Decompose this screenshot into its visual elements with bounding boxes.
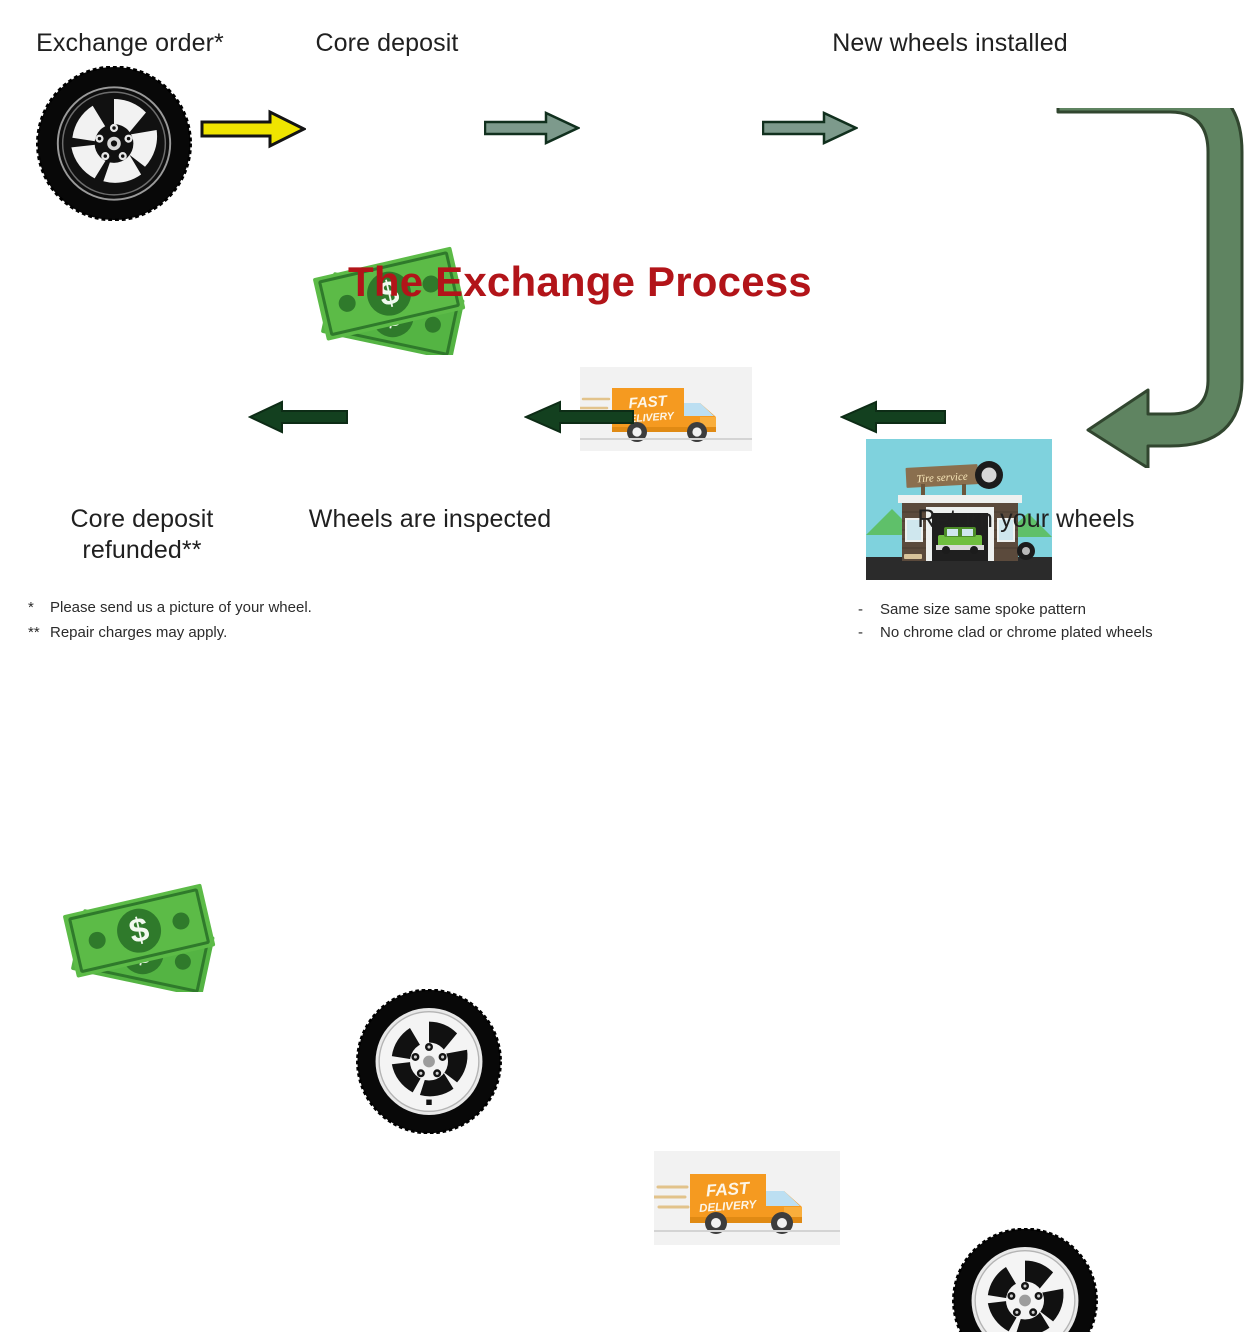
bullet-marker: - (858, 597, 880, 622)
arrow-garage-to-return (1052, 108, 1250, 468)
footnote-left-1: *Please send us a picture of your wheel. (28, 595, 312, 620)
step-label-core-deposit-refunded: Core deposit refunded** (22, 504, 262, 566)
wheel-dark-icon (36, 66, 192, 221)
footnote-marker: ** (28, 620, 50, 645)
exchange-process-diagram: Exchange order* Core deposit New wheels … (0, 0, 1250, 666)
arrow-truck-to-garage (762, 110, 858, 146)
bullet-marker: - (858, 620, 880, 645)
footnote-text: No chrome clad or chrome plated wheels (880, 624, 1153, 641)
arrow-inspect-to-refund (248, 400, 348, 434)
footnote-text: Same size same spoke pattern (880, 601, 1086, 618)
step-label-core-deposit: Core deposit (268, 28, 506, 59)
money-icon-refund: $ $ (58, 864, 226, 992)
fast-delivery-truck-icon-bottom: FAST DELIVERY (654, 1151, 840, 1245)
page-title: The Exchange Process (348, 258, 812, 306)
svg-text:FAST: FAST (628, 393, 669, 413)
svg-text:FAST: FAST (705, 1178, 751, 1200)
footnote-left-2: **Repair charges may apply. (28, 620, 227, 645)
wheel-silver-icon-inspected (356, 989, 502, 1134)
footnote-text: Please send us a picture of your wheel. (50, 599, 312, 616)
step-label-wheels-are-inspected: Wheels are inspected (300, 504, 560, 535)
wheel-silver-icon-return (952, 1228, 1098, 1332)
footnote-right-1: -Same size same spoke pattern (858, 597, 1086, 622)
footnote-right-2: -No chrome clad or chrome plated wheels (858, 620, 1153, 645)
step-label-exchange-order: Exchange order* (0, 28, 260, 59)
footnote-marker: * (28, 595, 50, 620)
footnote-text: Repair charges may apply. (50, 624, 227, 641)
arrow-return-to-truck (840, 400, 946, 434)
step-label-new-wheels-installed: New wheels installed (800, 28, 1100, 59)
step-label-return-your-wheels: Return your wheels (898, 504, 1154, 535)
arrow-deposit-to-truck (484, 110, 580, 146)
arrow-order-to-deposit (200, 109, 306, 149)
arrow-truck-to-inspect (524, 400, 634, 434)
